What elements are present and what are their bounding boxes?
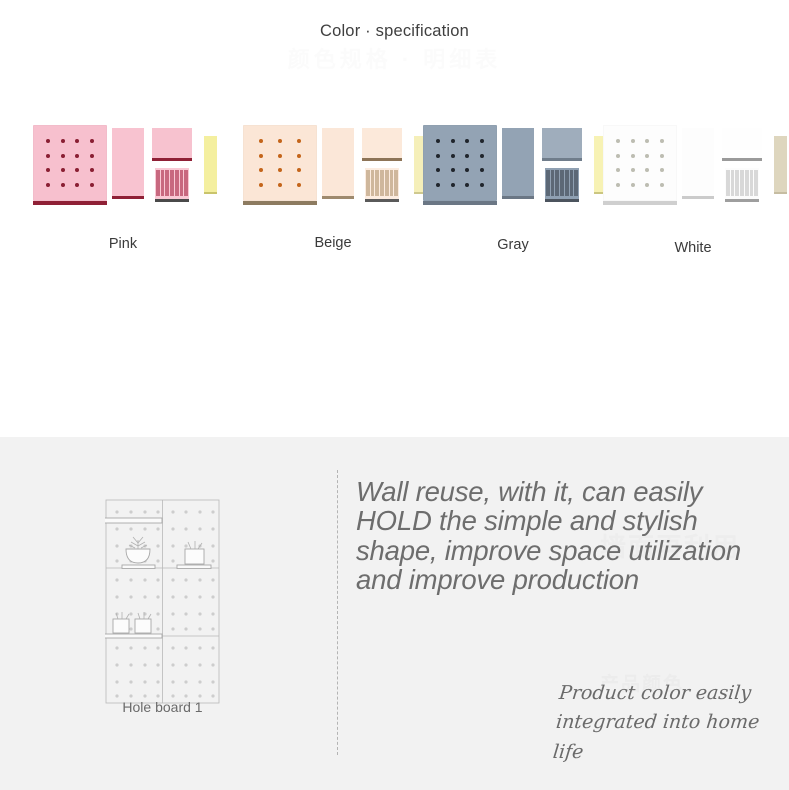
variant-label-pink: Pink (28, 236, 218, 252)
basket-slat (570, 170, 574, 196)
basket-slat (375, 170, 379, 196)
tall-side-panel (322, 128, 354, 196)
pegboard-hole (297, 168, 301, 172)
accent-strip (204, 136, 217, 192)
shelf-piece (152, 128, 192, 158)
pegboard-panel (603, 125, 677, 201)
slatted-basket (545, 168, 579, 200)
feature-headline: Wall reuse, with it, can easily HOLD the… (356, 477, 771, 595)
pegboard-hole (465, 139, 469, 143)
variant-group-gray[interactable]: Gray (418, 120, 608, 260)
pegboard-panel (243, 125, 317, 201)
ghost-title-watermark: 颜色规格 · 明细表 (0, 42, 789, 74)
basket-slat (546, 170, 550, 196)
shelf-piece (362, 128, 402, 158)
pegboard-hole (61, 183, 65, 187)
pegboard-hole (660, 139, 664, 143)
basket-slat (184, 170, 188, 196)
pegboard-bottom-edge (33, 201, 107, 205)
pegboard-hole (297, 139, 301, 143)
pegboard-hole (75, 183, 79, 187)
pegboard-hole (436, 154, 440, 158)
basket-slat (754, 170, 758, 196)
shelf-bottom-edge (152, 158, 192, 161)
pegboard-hole (46, 168, 50, 172)
variant-group-white[interactable]: White (598, 120, 788, 260)
variant-label-white: White (598, 240, 788, 256)
pegboard-hole (631, 139, 635, 143)
pegboard-hole (278, 168, 282, 172)
tall-panel-bottom-edge (112, 196, 144, 199)
basket-slat (371, 170, 375, 196)
pegboard-panel (423, 125, 497, 201)
pegboard-bottom-edge (423, 201, 497, 205)
tall-panel-bottom-edge (322, 196, 354, 199)
basket-base-edge (365, 199, 399, 202)
pegboard-hole (660, 183, 664, 187)
pegboard-hole (451, 154, 455, 158)
pegboard-hole (451, 139, 455, 143)
accent-strip-bottom-edge (774, 192, 787, 194)
pegboard-hole (631, 154, 635, 158)
basket-slat (390, 170, 394, 196)
pegboard-hole (645, 168, 649, 172)
pegboard-hole (61, 168, 65, 172)
shelf-bottom-edge (542, 158, 582, 161)
pegboard-hole (90, 139, 94, 143)
slatted-basket (725, 168, 759, 200)
pegboard-hole (631, 183, 635, 187)
pegboard-bottom-edge (243, 201, 317, 205)
basket-slat (175, 170, 179, 196)
illustration-caption: Hole board 1 (70, 699, 255, 715)
tall-side-panel (112, 128, 144, 196)
pegboard-hole (645, 154, 649, 158)
pegboard-hole (645, 183, 649, 187)
slatted-basket (155, 168, 189, 200)
basket-slat (380, 170, 384, 196)
shelf-piece (542, 128, 582, 158)
pegboard-wall-line-drawing (105, 499, 220, 704)
pegboard-hole (645, 139, 649, 143)
pegboard-hole (259, 139, 263, 143)
pegboard-hole (451, 168, 455, 172)
basket-slat (161, 170, 165, 196)
pegboard-hole (259, 183, 263, 187)
pegboard-hole (660, 168, 664, 172)
basket-base-edge (155, 199, 189, 202)
pegboard-hole (278, 139, 282, 143)
basket-slat (165, 170, 169, 196)
pegboard-hole (259, 168, 263, 172)
pegboard-hole (480, 154, 484, 158)
pegboard-hole (90, 183, 94, 187)
tall-side-panel (502, 128, 534, 196)
basket-slat (366, 170, 370, 196)
pegboard-hole (46, 183, 50, 187)
feature-description-section: Hole board 1 墙面再利用 Wall reuse, with it, … (0, 437, 789, 790)
basket-base-edge (725, 199, 759, 202)
basket-base-edge (545, 199, 579, 202)
pegboard-hole (616, 139, 620, 143)
pegboard-hole (297, 183, 301, 187)
shelf-bottom-edge (362, 158, 402, 161)
pegboard-hole (278, 154, 282, 158)
pegboard-hole (61, 139, 65, 143)
pegboard-hole (451, 183, 455, 187)
shelf-bottom-edge (722, 158, 762, 161)
pegboard-hole (480, 183, 484, 187)
pegboard-hole (90, 154, 94, 158)
pegboard-hole (75, 168, 79, 172)
basket-slat (180, 170, 184, 196)
pegboard-hole (480, 139, 484, 143)
basket-slat (565, 170, 569, 196)
basket-slat (560, 170, 564, 196)
basket-slat (731, 170, 735, 196)
variant-label-beige: Beige (238, 235, 428, 251)
pegboard-hole (436, 139, 440, 143)
pegboard-hole (436, 168, 440, 172)
page-title: Color · specification (0, 22, 789, 41)
pegboard-panel (33, 125, 107, 201)
pegboard-hole (75, 154, 79, 158)
pegboard-hole (480, 168, 484, 172)
basket-slat (170, 170, 174, 196)
pegboard-hole (259, 154, 263, 158)
pegboard-hole (75, 139, 79, 143)
pegboard-hole (616, 168, 620, 172)
shelf-piece (722, 128, 762, 158)
basket-slat (726, 170, 730, 196)
pegboard-hole (465, 183, 469, 187)
pegboard-hole (46, 154, 50, 158)
tall-panel-bottom-edge (682, 196, 714, 199)
pegboard-hole (616, 183, 620, 187)
tall-side-panel (682, 128, 714, 196)
variant-group-pink[interactable]: Pink (28, 120, 218, 260)
basket-slat (574, 170, 578, 196)
accent-strip-bottom-edge (204, 192, 217, 194)
pegboard-bottom-edge (603, 201, 677, 205)
basket-slat (735, 170, 739, 196)
variant-label-gray: Gray (418, 237, 608, 253)
pegboard-hole (61, 154, 65, 158)
accent-strip (774, 136, 787, 192)
pegboard-hole (616, 154, 620, 158)
pegboard-hole (436, 183, 440, 187)
basket-slat (750, 170, 754, 196)
pegboard-hole (631, 168, 635, 172)
basket-slat (385, 170, 389, 196)
basket-slat (156, 170, 160, 196)
pegboard-hole (465, 154, 469, 158)
basket-slat (745, 170, 749, 196)
pegboard-hole (297, 154, 301, 158)
pegboard-hole (46, 139, 50, 143)
basket-slat (740, 170, 744, 196)
slatted-basket (365, 168, 399, 200)
basket-slat (394, 170, 398, 196)
basket-slat (555, 170, 559, 196)
tall-panel-bottom-edge (502, 196, 534, 199)
vertical-dashed-divider (337, 470, 338, 755)
pegboard-hole (90, 168, 94, 172)
pegboard-hole (278, 183, 282, 187)
basket-slat (551, 170, 555, 196)
pegboard-hole (660, 154, 664, 158)
color-specification-section: 颜色规格 · 明细表 Color · specification Pink Be… (0, 0, 789, 437)
pegboard-hole (465, 168, 469, 172)
variant-group-beige[interactable]: Beige (238, 120, 428, 260)
script-tagline: Product color easily integrated into hom… (551, 679, 775, 767)
